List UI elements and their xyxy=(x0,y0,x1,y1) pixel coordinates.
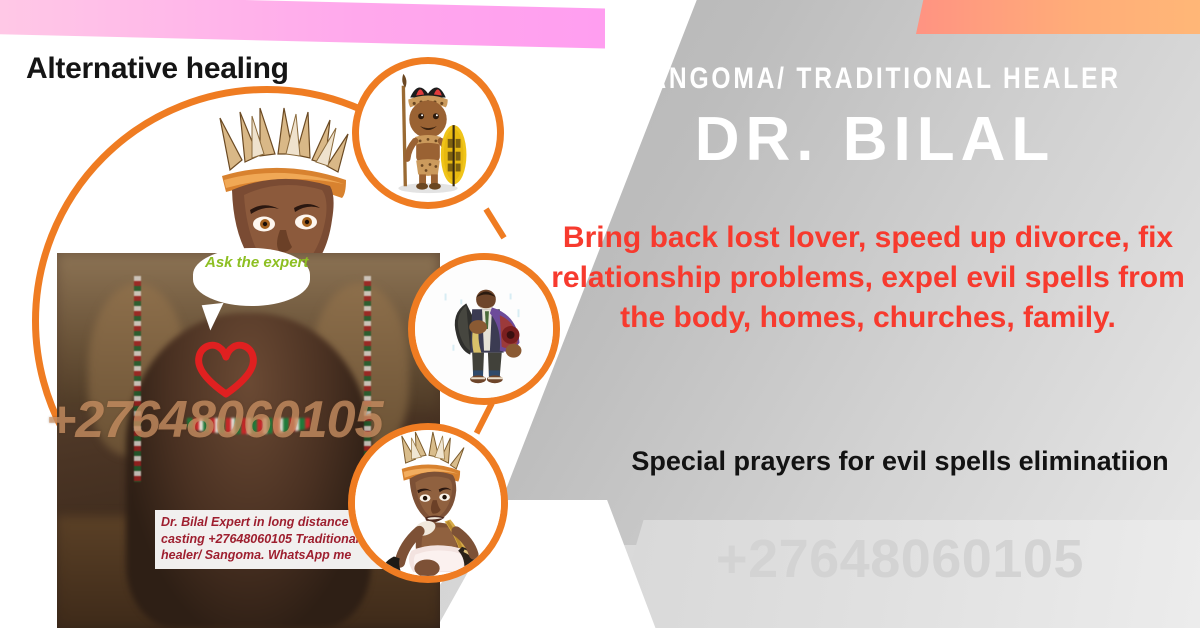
poster-canvas: Alternative healing xyxy=(0,0,1200,628)
services-text: Bring back lost lover, speed up divorce,… xyxy=(548,218,1188,338)
healer-name: DR. BILAL xyxy=(560,104,1190,175)
heart-outline-icon xyxy=(193,338,259,398)
eyebrow-title: SANGOMA/ TRADITIONAL HEALER xyxy=(617,62,1134,96)
circle-bubble-3 xyxy=(348,423,508,583)
contact-phone-number: +27648060105 xyxy=(600,528,1200,590)
traditional-healer-figure-icon xyxy=(415,260,553,398)
top-pink-bar xyxy=(0,0,605,48)
caption-line-2: casting +27648060105 Traditional xyxy=(161,531,381,548)
special-prayers-text: Special prayers for evil spells eliminat… xyxy=(600,444,1200,480)
photo-necklace xyxy=(187,418,310,434)
top-orange-bar xyxy=(916,0,1200,34)
speech-bubble-label: Ask the expert xyxy=(205,252,315,274)
circle-bubble-2 xyxy=(408,253,560,405)
caption-line-1: Dr. Bilal Expert in long distance spell xyxy=(161,514,381,531)
zulu-warrior-cartoon-icon xyxy=(359,64,497,202)
circle-connector-1 xyxy=(483,207,506,239)
sangoma-dancer-icon xyxy=(355,430,501,576)
circle-bubble-1 xyxy=(352,57,504,209)
caption-line-3: healer/ Sangoma. WhatsApp me xyxy=(161,547,381,564)
circle-connector-2 xyxy=(474,402,495,435)
page-title: Alternative healing xyxy=(26,52,289,86)
photo-beads-left xyxy=(134,276,141,482)
